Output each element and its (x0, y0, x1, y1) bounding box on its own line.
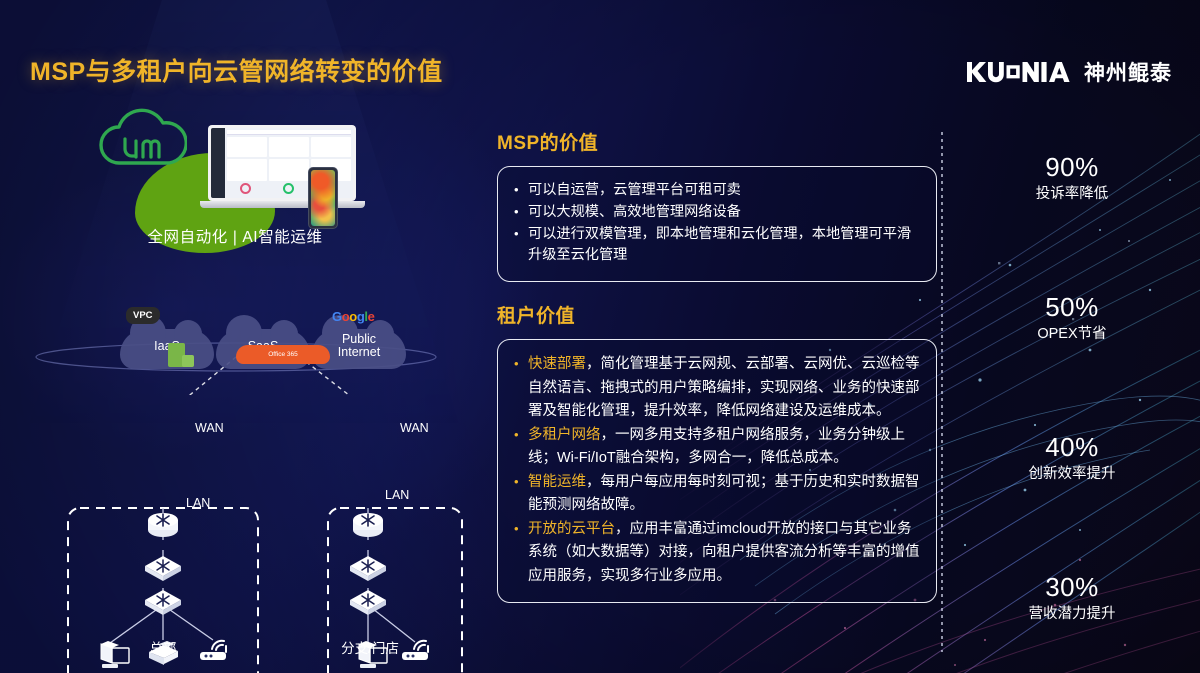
stats-column: 90% 投诉率降低 50% OPEX节省 40% 创新效率提升 30% 营收潜力… (952, 150, 1192, 624)
list-item: 可以进行双模管理，即本地管理和云化管理，本地管理可平滑升级至云化管理 (511, 224, 921, 266)
vertical-dotted-divider (941, 132, 943, 652)
laptop-base (200, 201, 365, 208)
stat-value: 30% (952, 570, 1192, 604)
service-cloud-iaas: IaaS VPC (120, 329, 214, 393)
service-cloud-saas: SaaS Office 365 (216, 329, 310, 388)
mini-chart (229, 139, 265, 152)
laptop-dashboard-graphic (200, 125, 365, 225)
tenant-value-box: 快速部署，简化管理基于云网规、云部署、云网优、云巡检等自然语言、拖拽式的用户策略… (497, 339, 937, 603)
google-badge-icon: Google (332, 309, 374, 324)
keyword: 智能运维 (528, 474, 586, 490)
tenant-bullet-list: 快速部署，简化管理基于云网规、云部署、云网优、云巡检等自然语言、拖拽式的用户策略… (511, 353, 921, 588)
stat-item: 40% 创新效率提升 (952, 430, 1192, 484)
site-caption-branch: 分支/门店 (325, 637, 415, 657)
wan-router-icon (148, 513, 178, 537)
vpc-badge-icon: VPC (126, 307, 160, 324)
gauge-icon (283, 183, 294, 194)
office365-badge-icon: Office 365 (236, 345, 330, 364)
google-letter: o (349, 309, 357, 324)
msp-bullet-list: 可以自运营，云管理平台可租可卖 可以大规模、高效地管理网络设备 可以进行双模管理… (511, 180, 921, 266)
list-item: 多租户网络，一网多用支持多租户网络服务，业务分钟级上线；Wi-Fi/IoT融合架… (511, 424, 921, 471)
google-letter: e (368, 309, 375, 324)
phone-heatmap-graphic (308, 167, 338, 229)
dashboard-card (227, 159, 267, 181)
stat-item: 30% 营收潜力提升 (952, 570, 1192, 624)
list-item: 可以自运营，云管理平台可租可卖 (511, 180, 921, 201)
mini-chart (229, 161, 265, 174)
core-switch-icon (145, 556, 181, 581)
msp-value-box: 可以自运营，云管理平台可租可卖 可以大规模、高效地管理网络设备 可以进行双模管理… (497, 166, 937, 282)
hero-caption: 全网自动化 | AI智能运维 (0, 225, 470, 247)
dashboard-card (269, 159, 309, 181)
cloud-services-row: IaaS VPC SaaS Office 365 Public Internet… (0, 295, 470, 395)
lan-label-hq: LAN (186, 496, 210, 510)
msp-section-heading: MSP的价值 (497, 128, 937, 155)
list-item: 可以大规模、高效地管理网络设备 (511, 202, 921, 223)
wifi-heatmap-icon (311, 170, 335, 226)
core-switch-icon (350, 556, 386, 581)
stat-value: 90% (952, 150, 1192, 184)
dashboard-sidebar (211, 128, 225, 198)
kuntai-wordmark-icon (967, 61, 1073, 83)
slide-title: MSP与多租户向云管网络转变的价值 (30, 52, 443, 88)
lan-switch-icon (145, 590, 181, 615)
left-illustration: 全网自动化 | AI智能运维 IaaS VPC SaaS Office 365 … (0, 100, 470, 673)
dashboard-card (227, 137, 267, 157)
stat-value: 40% (952, 430, 1192, 464)
google-letter: G (332, 309, 342, 324)
stat-label: 营收潜力提升 (952, 604, 1192, 624)
brand-logo: 神州鲲泰 (967, 57, 1172, 87)
wan-router-icon (353, 513, 383, 537)
keyword: 开放的云平台 (528, 521, 615, 537)
imcloud-logo-icon (95, 105, 187, 177)
list-item: 智能运维，每用户每应用每时刻可视；基于历史和实时数据智能预测网络故障。 (511, 471, 921, 518)
bullet-text: ，每用户每应用每时刻可视；基于历史和实时数据智能预测网络故障。 (528, 474, 920, 514)
site-caption-hq: 总部 (93, 637, 233, 657)
service-label: IaaS (120, 340, 214, 353)
dashboard-card (269, 137, 309, 157)
bullet-text: ，简化管理基于云网规、云部署、云网优、云巡检等自然语言、拖拽式的用户策略编排，实… (528, 356, 920, 419)
mini-chart (313, 139, 349, 152)
stat-label: 投诉率降低 (952, 184, 1192, 204)
stat-label: 创新效率提升 (952, 464, 1192, 484)
stat-label: OPEX节省 (952, 324, 1192, 344)
value-content-column: MSP的价值 可以自运营，云管理平台可租可卖 可以大规模、高效地管理网络设备 可… (497, 128, 937, 603)
wan-label-hq: WAN (195, 421, 224, 435)
tenant-section-heading: 租户价值 (497, 301, 937, 328)
list-item: 开放的云平台，应用丰富通过imcloud开放的接口与其它业务系统（如大数据等）对… (511, 518, 921, 589)
dashboard-toolbar (227, 130, 351, 135)
lan-switch-icon (350, 590, 386, 615)
keyword: 多租户网络 (528, 427, 601, 443)
stat-item: 90% 投诉率降低 (952, 150, 1192, 204)
dashboard-card (311, 137, 351, 157)
stat-item: 50% OPEX节省 (952, 290, 1192, 344)
keyword: 快速部署 (528, 356, 586, 372)
wan-label-branch: WAN (400, 421, 429, 435)
stat-value: 50% (952, 290, 1192, 324)
gauge-icon (240, 183, 251, 194)
brand-name-cn: 神州鲲泰 (1084, 57, 1172, 87)
network-topology-diagram (0, 400, 470, 673)
lan-label-branch: LAN (385, 488, 409, 502)
server-badge-icon (168, 343, 185, 367)
list-item: 快速部署，简化管理基于云网规、云部署、云网优、云巡检等自然语言、拖拽式的用户策略… (511, 353, 921, 424)
